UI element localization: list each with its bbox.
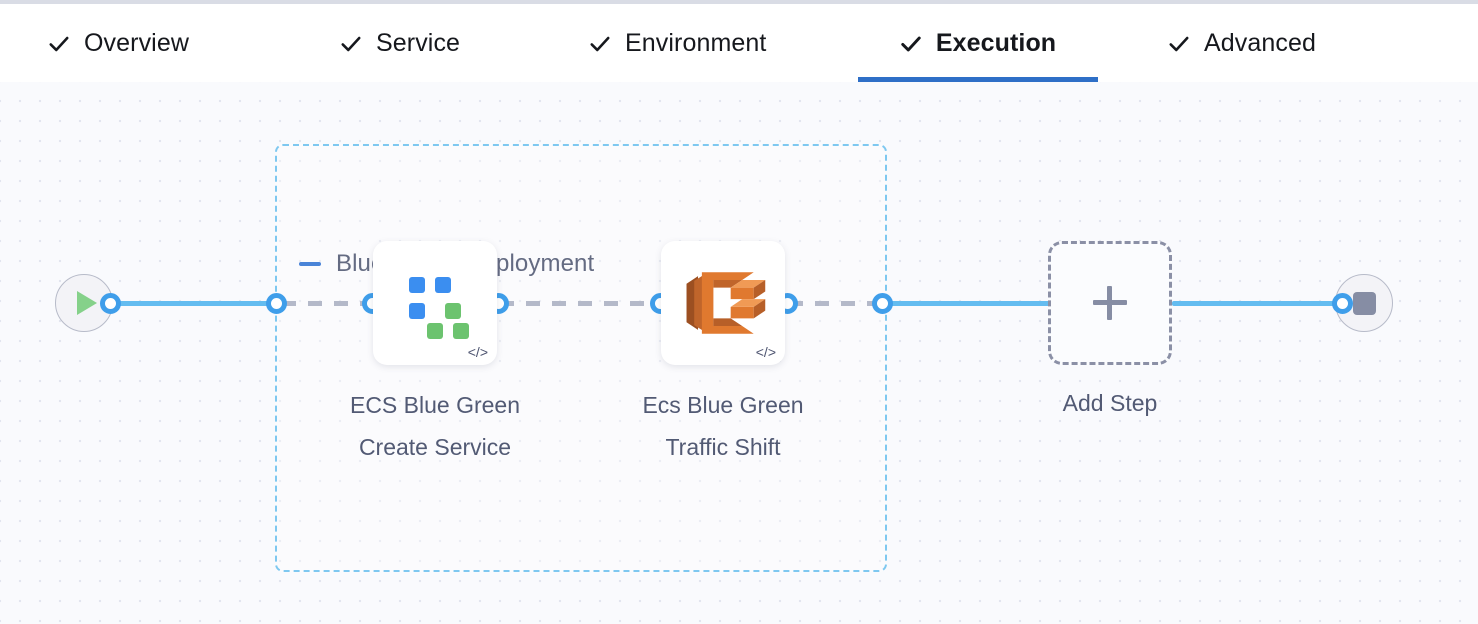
connector-group-exit[interactable] xyxy=(872,293,893,314)
tab-label: Environment xyxy=(625,29,766,58)
step-node-ecs-blue-green-traffic-shift[interactable]: </> xyxy=(661,241,785,365)
check-icon xyxy=(900,33,922,55)
step-label-ecs-blue-green-traffic-shift: Ecs Blue Green Traffic Shift xyxy=(601,384,845,468)
tab-advanced[interactable]: Advanced xyxy=(1150,4,1334,82)
tab-label: Overview xyxy=(84,29,189,58)
tab-label: Advanced xyxy=(1204,29,1316,58)
step-label-ecs-blue-green-create-service: ECS Blue Green Create Service xyxy=(313,384,557,468)
plus-icon xyxy=(1093,286,1127,320)
check-icon xyxy=(48,33,70,55)
tab-environment[interactable]: Environment xyxy=(571,4,784,82)
minus-icon[interactable] xyxy=(297,251,323,277)
wizard-tab-bar: Overview Service Environment xyxy=(0,0,1478,82)
tab-overview[interactable]: Overview xyxy=(30,4,207,82)
play-icon xyxy=(77,291,97,315)
code-badge-icon: </> xyxy=(468,345,488,359)
tab-service[interactable]: Service xyxy=(322,4,478,82)
check-icon xyxy=(340,33,362,55)
edge-add-step-to-end xyxy=(1172,301,1350,306)
stop-icon xyxy=(1353,292,1376,315)
connector-end[interactable] xyxy=(1332,293,1353,314)
code-badge-icon: </> xyxy=(756,345,776,359)
tab-label: Service xyxy=(376,29,460,58)
connector-group-entry[interactable] xyxy=(266,293,287,314)
check-icon xyxy=(589,33,611,55)
edge-step1-to-step2 xyxy=(500,301,668,306)
check-icon xyxy=(1168,33,1190,55)
tab-execution[interactable]: Execution xyxy=(858,4,1098,82)
step-node-ecs-blue-green-create-service[interactable]: </> xyxy=(373,241,497,365)
pipeline-studio: Overview Service Environment xyxy=(0,0,1478,624)
add-step-label: Add Step xyxy=(988,382,1232,424)
connector-start[interactable] xyxy=(100,293,121,314)
step-group-blue-green-deployment[interactable] xyxy=(275,144,887,572)
edge-start-to-group xyxy=(108,301,280,306)
pipeline-canvas[interactable]: Blue Green Deployment xyxy=(0,82,1478,624)
add-step-button[interactable] xyxy=(1048,241,1172,365)
edge-group-exit-to-add-step xyxy=(884,301,1056,306)
tab-label: Execution xyxy=(936,29,1056,58)
